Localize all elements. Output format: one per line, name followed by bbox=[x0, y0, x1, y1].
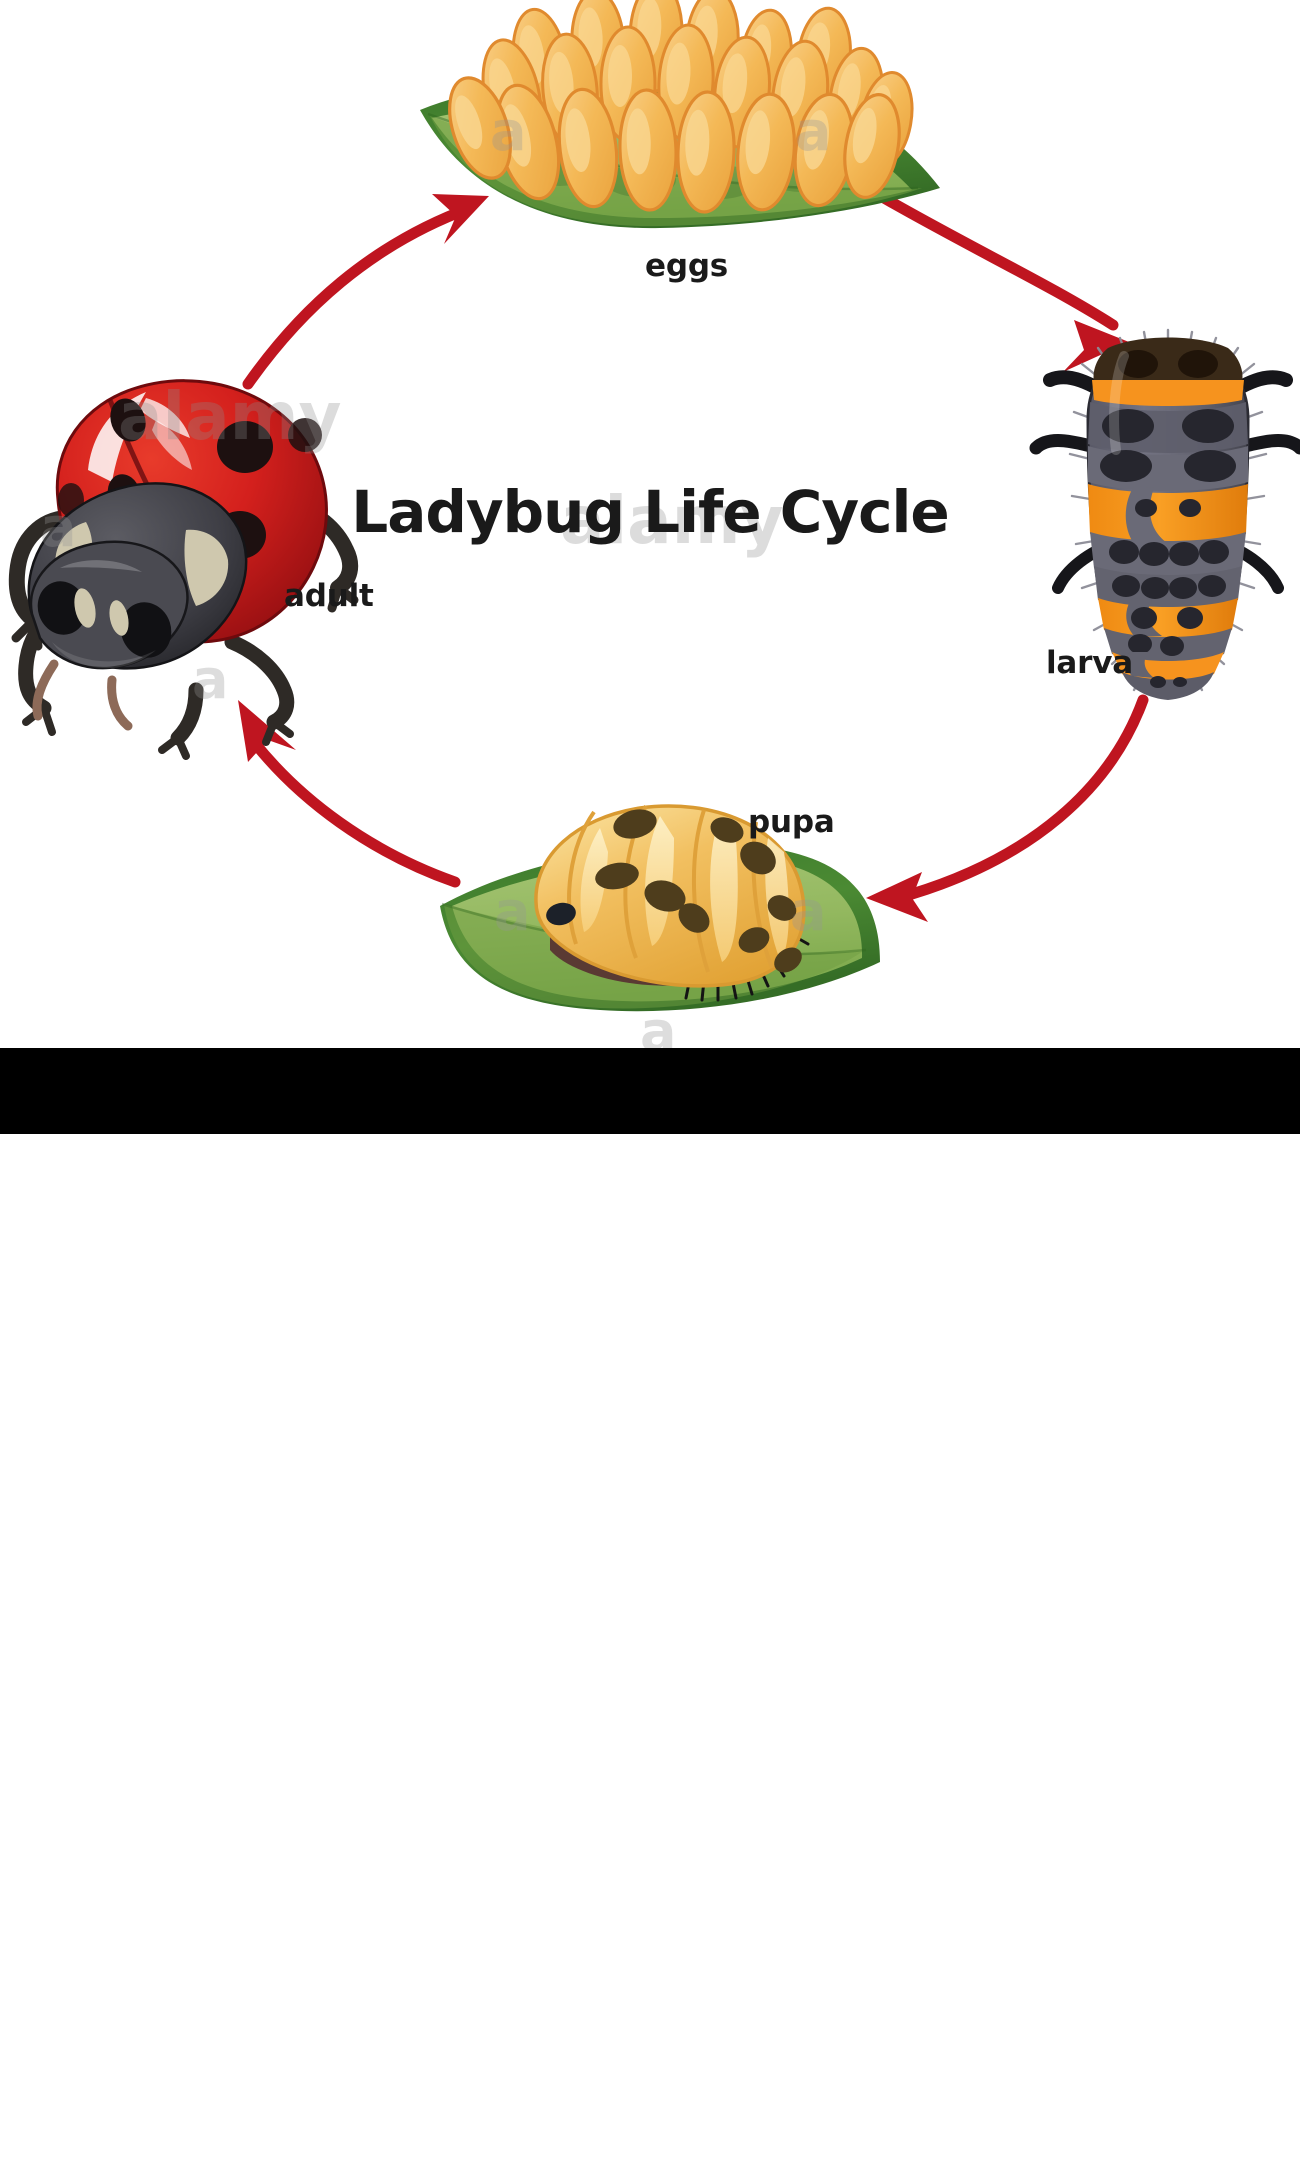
arrow-adult-to-eggs bbox=[248, 194, 489, 384]
diagram-title: Ladybug Life Cycle bbox=[0, 478, 1300, 546]
stage-label-adult: adult bbox=[284, 578, 374, 614]
arrow-larva-to-pupa bbox=[866, 700, 1143, 922]
image-id-text: Image ID: 2T8NNB6 bbox=[1112, 2110, 1282, 2131]
footer-credits: Image ID: 2T8NNB6 www.alamy.com bbox=[1082, 2110, 1282, 2166]
stage-label-eggs: eggs bbox=[645, 248, 728, 284]
alamy-url-text: www.alamy.com bbox=[1112, 2135, 1282, 2166]
alamy-footer-bar: alamy Image ID: 2T8NNB6 www.alamy.com bbox=[0, 1048, 1300, 1134]
stage-label-larva: larva bbox=[1046, 645, 1133, 681]
arrow-eggs-to-larva bbox=[884, 198, 1129, 372]
diagram-canvas: alamy alamy a a a a a a a eggs larva pup… bbox=[0, 0, 1300, 1048]
stage-eggs bbox=[420, 0, 940, 228]
stage-adult bbox=[16, 381, 354, 756]
alamy-logo: alamy bbox=[52, 2106, 183, 2158]
stage-label-pupa: pupa bbox=[748, 804, 835, 840]
screenshot-root: alamy alamy a a a a a a a eggs larva pup… bbox=[0, 0, 1300, 1134]
